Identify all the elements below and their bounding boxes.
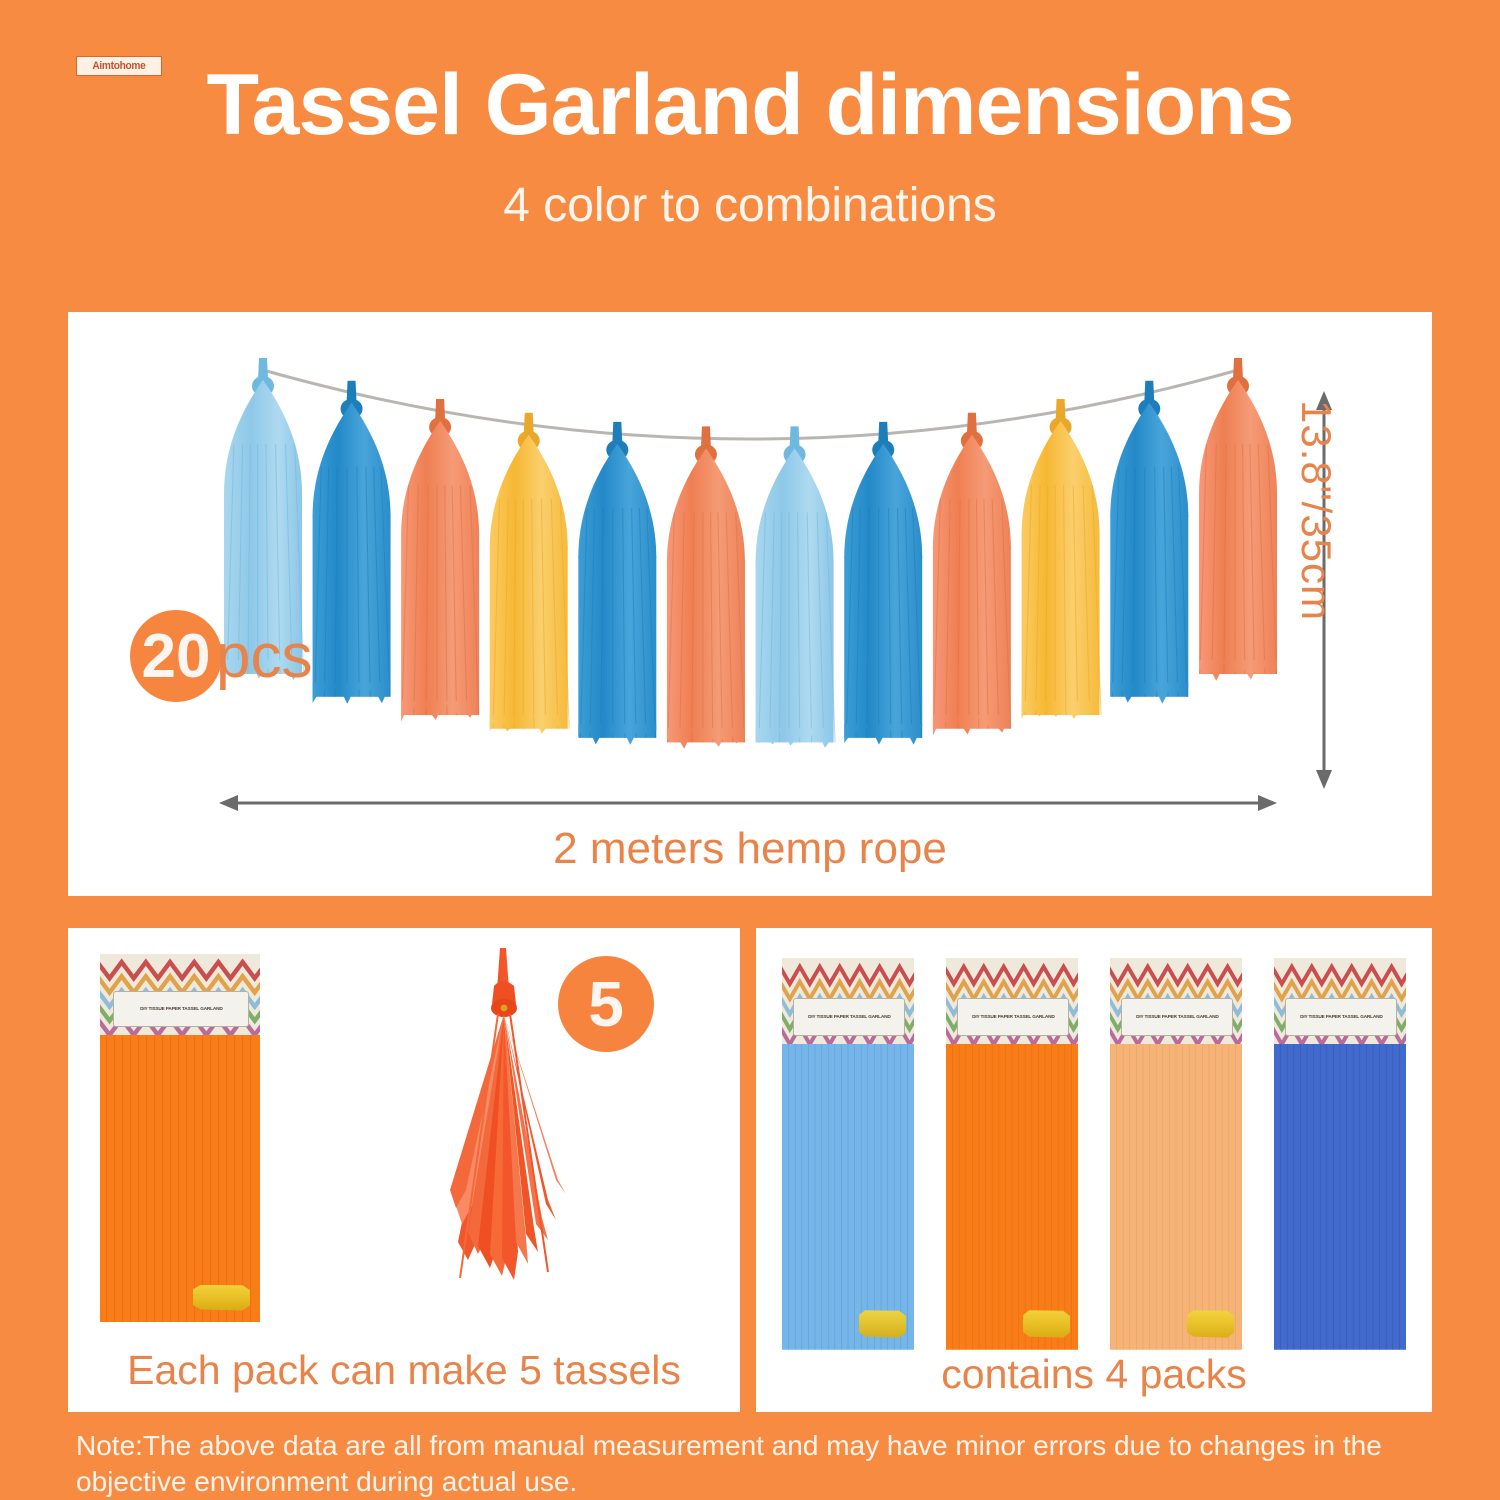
pack-banner: DIY TISSUE PAPER TASSEL GARLAND: [1121, 998, 1234, 1036]
packs-panel-caption: contains 4 packs: [756, 1351, 1432, 1398]
pack-header-card: DIY TISSUE PAPER TASSEL GARLAND: [946, 958, 1078, 1044]
hemp-rope: [263, 370, 1238, 439]
peach-pack: DIY TISSUE PAPER TASSEL GARLAND: [1110, 958, 1242, 1350]
tassel-12-coral: [1199, 358, 1277, 681]
pack-fringe: [100, 1035, 260, 1322]
pack-header-card: DIY TISSUE PAPER TASSEL GARLAND: [1110, 958, 1242, 1044]
width-dimension-arrow: [218, 790, 1278, 816]
tassel-3-coral: [401, 399, 479, 722]
orange-pack-graphic: DIY TISSUE PAPER TASSEL GARLAND: [100, 954, 260, 1322]
disclaimer-note: Note:The above data are all from manual …: [76, 1428, 1446, 1500]
tassel-5-blue: [578, 422, 656, 745]
page-title: Tassel Garland dimensions: [0, 62, 1500, 148]
gold-tie: [859, 1310, 907, 1338]
pack-body: [946, 1044, 1078, 1350]
pcs-badge-unit: pcs: [216, 614, 312, 700]
pack-banner-text: DIY TISSUE PAPER TASSEL GARLAND: [1136, 1014, 1218, 1020]
pack-body: [1274, 1044, 1406, 1350]
pack-header-card: DIY TISSUE PAPER TASSEL GARLAND: [100, 954, 260, 1035]
pack-banner: DIY TISSUE PAPER TASSEL GARLAND: [1285, 998, 1398, 1036]
page-header: Aimtohome ® Tassel Garland dimensions 4 …: [0, 0, 1500, 300]
pack-fringe: [782, 1044, 914, 1350]
pack-banner: DIY TISSUE PAPER TASSEL GARLAND: [113, 991, 249, 1027]
pack-header-card: DIY TISSUE PAPER TASSEL GARLAND: [1274, 958, 1406, 1044]
tassel-2-blue: [313, 381, 391, 704]
tassel-8-blue: [844, 422, 922, 745]
pack-fringe: [1274, 1044, 1406, 1350]
tassel-11-blue: [1110, 381, 1188, 704]
tassels-count-badge: 5: [558, 956, 654, 1052]
tassel-9-coral: [933, 413, 1011, 736]
pack-body: [100, 1035, 260, 1322]
pack-banner: DIY TISSUE PAPER TASSEL GARLAND: [793, 998, 906, 1036]
royal-blue-pack: DIY TISSUE PAPER TASSEL GARLAND: [1274, 958, 1406, 1350]
packs-row: DIY TISSUE PAPER TASSEL GARLAND: [782, 958, 1406, 1350]
pack-banner-text: DIY TISSUE PAPER TASSEL GARLAND: [140, 1006, 222, 1012]
pack-header-card: DIY TISSUE PAPER TASSEL GARLAND: [782, 958, 914, 1044]
packs-overview-panel: DIY TISSUE PAPER TASSEL GARLAND: [756, 928, 1432, 1412]
width-dimension-label: 2 meters hemp rope: [68, 824, 1432, 874]
pack-banner-text: DIY TISSUE PAPER TASSEL GARLAND: [808, 1014, 890, 1020]
pack-fringe: [1110, 1044, 1242, 1350]
tassel-group: [224, 358, 1277, 749]
garland-panel: 20 pcs 13.8"/35cm 2 meters hemp rope: [68, 312, 1432, 896]
pack-body: [782, 1044, 914, 1350]
pack-banner-text: DIY TISSUE PAPER TASSEL GARLAND: [1300, 1014, 1382, 1020]
pack-detail-panel: DIY TISSUE PAPER TASSEL GARLAND: [68, 928, 740, 1412]
tassel-6-coral: [667, 426, 745, 748]
orange-pack: DIY TISSUE PAPER TASSEL GARLAND: [946, 958, 1078, 1350]
page-subtitle: 4 color to combinations: [0, 182, 1500, 230]
tassel-10-yellow: [1022, 399, 1102, 719]
tassel-7-light-blue: [756, 426, 836, 747]
light-blue-pack: DIY TISSUE PAPER TASSEL GARLAND: [782, 958, 914, 1350]
gold-tie: [1023, 1310, 1071, 1338]
pack-body: [1110, 1044, 1242, 1350]
tassel-4-yellow: [490, 413, 570, 734]
pcs-badge-count: 20: [132, 614, 220, 700]
tassels-count-badge-value: 5: [588, 972, 624, 1036]
pack-fringe: [946, 1044, 1078, 1350]
pack-banner: DIY TISSUE PAPER TASSEL GARLAND: [957, 998, 1070, 1036]
pack-banner-text: DIY TISSUE PAPER TASSEL GARLAND: [972, 1014, 1054, 1020]
pack-panel-caption: Each pack can make 5 tassels: [68, 1347, 740, 1394]
gold-tie: [1187, 1310, 1235, 1338]
gold-tie: [193, 1285, 251, 1311]
height-dimension-label: 13.8"/35cm: [1292, 400, 1340, 780]
